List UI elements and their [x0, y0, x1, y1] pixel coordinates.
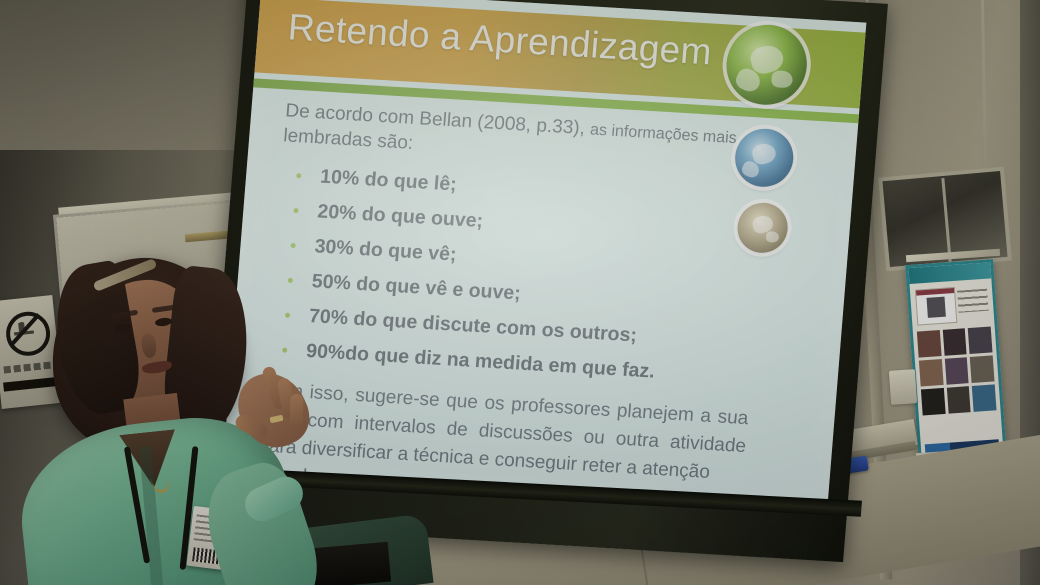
poster-thumbnail	[968, 326, 992, 354]
poster-hero-image	[927, 297, 946, 318]
classroom-photo: Retendo a Aprendizagem De acordo com Bel…	[0, 0, 1040, 585]
lead-line-2: lembradas são:	[283, 126, 414, 155]
slide-bullet-list: 10% do que lê; 20% do que ouve; 30% do q…	[265, 163, 766, 389]
poster-thumbnail	[944, 357, 968, 385]
presenter	[18, 250, 318, 585]
globe-continent	[765, 231, 779, 243]
lead-line-1-small: as informações mais	[589, 121, 737, 147]
poster-hero-panel	[915, 287, 957, 326]
poster-thumbnail	[970, 355, 994, 383]
slide-body: De acordo com Bellan (2008, p.33), as in…	[255, 98, 772, 509]
poster-header-band	[908, 262, 991, 284]
poster-hero-bar	[916, 288, 954, 296]
poster-headline-text	[957, 289, 988, 313]
poster-thumbnail	[946, 386, 970, 414]
poster-thumbnail	[942, 328, 966, 356]
wall-outlet	[889, 369, 917, 405]
presentation-slide: Retendo a Aprendizagem De acordo com Bel…	[222, 0, 866, 509]
poster-thumbnail	[921, 388, 945, 416]
wall-poster	[905, 259, 1007, 463]
poster-thumbnail	[972, 384, 996, 412]
globe-continent	[771, 70, 793, 89]
finger	[289, 394, 303, 428]
poster-thumbnail	[919, 359, 943, 387]
poster-thumbnail	[917, 330, 941, 358]
poster-thumbnail-grid	[917, 326, 998, 441]
